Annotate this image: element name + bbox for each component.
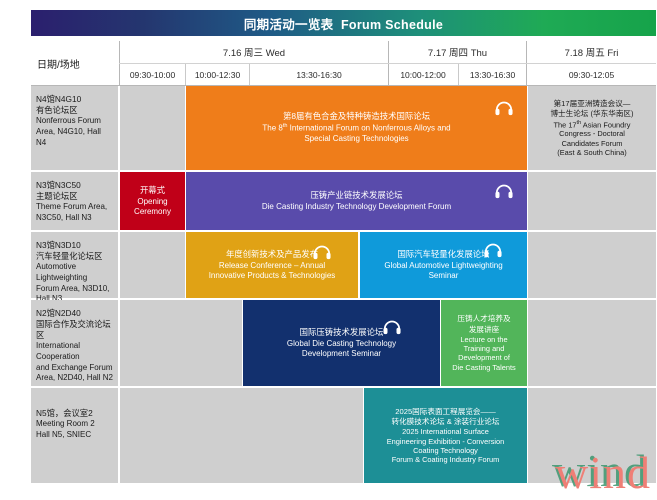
time-slot-2: 10:00-12:30 — [186, 64, 249, 86]
page-title-banner: 同期活动一览表 Forum Schedule — [31, 10, 656, 36]
venue-line: 国际合作及交流论坛区 — [36, 319, 113, 341]
headphones-icon — [493, 181, 515, 199]
event-title-cn: 国际压铸技术发展论坛 — [300, 327, 384, 338]
event-title-cn2: 博士生论坛 (华东华南区) — [550, 109, 633, 118]
event-title-en2: Congress - Doctoral — [559, 129, 625, 138]
event-title-cn: 压铸产业链技术发展论坛 — [310, 190, 402, 201]
event-title-cn: 第8届有色合金及特种铸造技术国际论坛 — [283, 111, 430, 122]
time-slot-3: 13:30-16:30 — [250, 64, 388, 86]
event-title-cn: 2025国际表面工程展览会—— — [395, 407, 495, 416]
event-title-en: The 17th Asian Foundry — [554, 120, 631, 130]
event-title-en: 2025 International Surface — [402, 427, 489, 436]
time-slot-5: 13:30-16:30 — [459, 64, 526, 86]
event-title-en: Global Die Casting Technology — [287, 339, 396, 349]
event-release-conference[interactable]: 年度创新技术及产品发布 Release Conference – Annual … — [186, 232, 358, 298]
day-header-wed: 7.16 周三 Wed — [120, 41, 388, 63]
venue-cell-n4g10: N4馆N4G10 有色论坛区 Nonferrous Forum Area, N4… — [31, 86, 118, 170]
venue-line: International Cooperation — [36, 341, 113, 362]
venue-line: Area, N4G10, Hall N4 — [36, 127, 113, 148]
venue-cell-n3c50: N3馆N3C50 主题论坛区 Theme Forum Area, N3C50, … — [31, 172, 118, 230]
event-title-en3: Coating Technology — [413, 446, 478, 455]
headphones-icon — [493, 98, 515, 116]
venue-line: N4馆N4G10 — [36, 94, 113, 105]
empty-slot — [528, 172, 656, 230]
time-slot-6: 09:30-12:05 — [527, 64, 656, 86]
venue-line: Nonferrous Forum — [36, 116, 113, 127]
venue-line: N3C50, Hall N3 — [36, 213, 113, 224]
empty-slot — [528, 388, 656, 483]
venue-line: 有色论坛区 — [36, 105, 113, 116]
event-title-cn2: 转化膜技术论坛 & 涂装行业论坛 — [391, 417, 499, 426]
venue-line: N3馆N3C50 — [36, 180, 113, 191]
event-title-en2: Ceremony — [134, 207, 171, 217]
event-title-cn: 年度创新技术及产品发布 — [226, 249, 318, 260]
venue-line: N3馆N3D10 — [36, 240, 113, 251]
headphones-icon — [381, 317, 403, 335]
day-header-thu: 7.17 周四 Thu — [389, 41, 526, 63]
venue-line: Hall N5, SNIEC — [36, 430, 113, 441]
page-title: 同期活动一览表 Forum Schedule — [244, 14, 443, 33]
venue-cell-n3d10: N3馆N3D10 汽车轻量化论坛区 Automotive Lightweight… — [31, 232, 118, 298]
forum-schedule-page: 同期活动一览表 Forum Schedule 日期/场地 7.16 周三 Wed… — [0, 0, 657, 500]
event-title-cn2: 发展讲座 — [469, 325, 499, 334]
empty-slot — [120, 86, 185, 170]
event-title-cn: 开幕式 — [140, 185, 165, 196]
headphones-icon — [311, 242, 333, 260]
event-title-en4: Die Casting Talents — [452, 363, 516, 372]
event-title-en4: Forum & Coating Industry Forum — [392, 455, 500, 464]
empty-slot — [120, 388, 363, 483]
header-corner-label: 日期/场地 — [31, 41, 125, 86]
empty-slot — [528, 232, 656, 298]
venue-line: 汽车轻量化论坛区 — [36, 251, 113, 262]
venue-cell-n2d40: N2馆N2D40 国际合作及交流论坛区 International Cooper… — [31, 300, 118, 386]
event-nonferrous-forum[interactable]: 第8届有色合金及特种铸造技术国际论坛 The 8th International… — [186, 86, 527, 170]
event-die-casting-industry-chain[interactable]: 压铸产业链技术发展论坛 Die Casting Industry Technol… — [186, 172, 527, 230]
venue-line: Theme Forum Area, — [36, 202, 113, 213]
event-title-en: Die Casting Industry Technology Developm… — [262, 202, 451, 212]
venue-line: Automotive Lightweighting — [36, 262, 113, 283]
event-global-die-casting-seminar[interactable]: 国际压铸技术发展论坛 Global Die Casting Technology… — [243, 300, 440, 386]
event-title-cn: 压铸人才培养及 — [457, 314, 510, 323]
venue-line: and Exchange Forum — [36, 363, 113, 374]
event-title-en: Opening — [137, 197, 167, 207]
event-title-en3: Development of — [458, 353, 510, 362]
empty-slot — [120, 232, 185, 298]
event-title-en2: Development Seminar — [302, 349, 381, 359]
venue-line: Meeting Room 2 — [36, 419, 113, 430]
time-slot-4: 10:00-12:00 — [389, 64, 457, 86]
venue-line: Forum Area, N3D10, — [36, 284, 113, 295]
venue-line: N5馆，会议室2 — [36, 408, 113, 419]
empty-slot — [120, 300, 242, 386]
event-asian-foundry-congress[interactable]: 第17届亚洲铸造会议— 博士生论坛 (华东华南区) The 17th Asian… — [528, 86, 656, 170]
event-title-en4: (East & South China) — [557, 148, 626, 157]
event-automotive-lightweighting[interactable]: 国际汽车轻量化发展论坛 Global Automotive Lightweigh… — [360, 232, 527, 298]
headphones-icon — [482, 240, 504, 258]
event-title-en: Lecture on the — [460, 335, 507, 344]
event-title-en2: Training and — [464, 344, 505, 353]
venue-cell-n5-meeting-room-2: N5馆，会议室2 Meeting Room 2 Hall N5, SNIEC — [31, 388, 118, 483]
event-title-en: Global Automotive Lightweighting — [384, 261, 502, 271]
event-opening-ceremony[interactable]: 开幕式 Opening Ceremony — [120, 172, 185, 230]
empty-slot — [528, 300, 656, 386]
schedule-header: 日期/场地 7.16 周三 Wed 7.17 周四 Thu 7.18 周五 Fr… — [31, 41, 656, 86]
venue-line: 主题论坛区 — [36, 191, 113, 202]
event-die-casting-talents-lecture[interactable]: 压铸人才培养及 发展讲座 Lecture on the Training and… — [441, 300, 527, 386]
event-title-en2: Engineering Exhibition - Conversion — [387, 437, 505, 446]
event-title-cn: 第17届亚洲铸造会议— — [554, 99, 631, 108]
event-title-en2: Seminar — [429, 271, 459, 281]
event-title-cn: 国际汽车轻量化发展论坛 — [397, 249, 489, 260]
event-title-en3: Candidates Forum — [562, 139, 623, 148]
day-header-fri: 7.18 周五 Fri — [527, 41, 656, 63]
time-slot-1: 09:30-10:00 — [120, 64, 185, 86]
event-title-en: The 8th International Forum on Nonferrou… — [262, 123, 450, 134]
event-title-en: Release Conference – Annual — [219, 261, 325, 271]
venue-line: N2馆N2D40 — [36, 308, 113, 319]
event-surface-engineering-exhibition[interactable]: 2025国际表面工程展览会—— 转化膜技术论坛 & 涂装行业论坛 2025 In… — [364, 388, 527, 483]
event-title-en2: Innovative Products & Technologies — [209, 271, 336, 281]
event-title-en2: Special Casting Technologies — [304, 134, 408, 144]
schedule-body: N4馆N4G10 有色论坛区 Nonferrous Forum Area, N4… — [31, 86, 656, 485]
venue-line: Area, N2D40, Hall N2 — [36, 373, 113, 384]
